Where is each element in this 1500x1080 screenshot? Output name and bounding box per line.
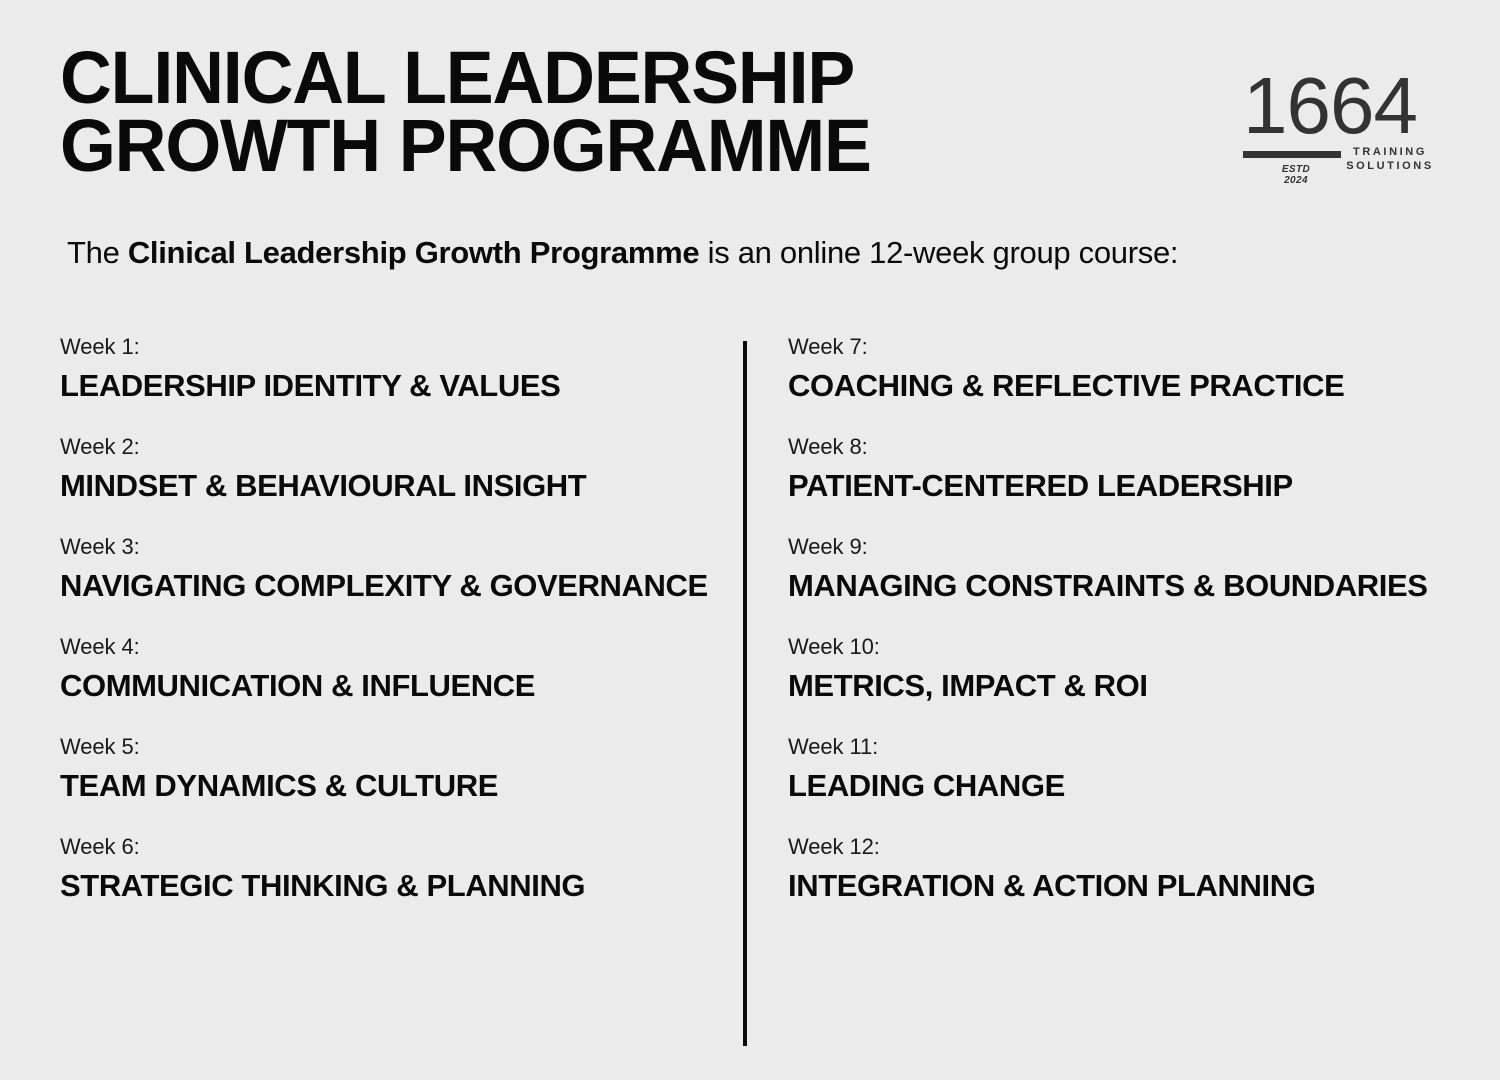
week-title: NAVIGATING COMPLEXITY & GOVERNANCE xyxy=(60,565,725,606)
week-item: Week 1:LEADERSHIP IDENTITY & VALUES xyxy=(60,332,725,406)
week-title: STRATEGIC THINKING & PLANNING xyxy=(60,865,725,906)
week-title: MINDSET & BEHAVIOURAL INSIGHT xyxy=(60,465,725,506)
week-label: Week 7: xyxy=(788,332,1468,362)
subtitle-tail: is an online 12-week group course: xyxy=(699,235,1178,270)
logo-tagline-text: TRAINING SOLUTIONS xyxy=(1341,145,1439,173)
week-columns: Week 1:LEADERSHIP IDENTITY & VALUESWeek … xyxy=(0,332,1500,1072)
week-label: Week 10: xyxy=(788,632,1468,662)
week-item: Week 8:PATIENT-CENTERED LEADERSHIP xyxy=(788,432,1468,506)
logo-tagline-line-2: SOLUTIONS xyxy=(1341,159,1439,173)
week-item: Week 12:INTEGRATION & ACTION PLANNING xyxy=(788,832,1468,906)
week-title: COMMUNICATION & INFLUENCE xyxy=(60,665,725,706)
week-item: Week 7:COACHING & REFLECTIVE PRACTICE xyxy=(788,332,1468,406)
week-label: Week 2: xyxy=(60,432,725,462)
week-item: Week 2:MINDSET & BEHAVIOURAL INSIGHT xyxy=(60,432,725,506)
header: CLINICAL LEADERSHIP GROWTH PROGRAMME 166… xyxy=(0,0,1500,215)
week-label: Week 3: xyxy=(60,532,725,562)
week-title: METRICS, IMPACT & ROI xyxy=(788,665,1468,706)
brand-logo: 1664 ESTD 2024 TRAINING SOLUTIONS xyxy=(1238,66,1438,186)
week-label: Week 6: xyxy=(60,832,725,862)
week-item: Week 6:STRATEGIC THINKING & PLANNING xyxy=(60,832,725,906)
logo-established-text: ESTD 2024 xyxy=(1266,164,1326,186)
poster-page: CLINICAL LEADERSHIP GROWTH PROGRAMME 166… xyxy=(0,0,1500,1080)
subtitle-emphasis: Clinical Leadership Growth Programme xyxy=(128,235,699,270)
week-column-left: Week 1:LEADERSHIP IDENTITY & VALUESWeek … xyxy=(60,332,725,932)
week-label: Week 12: xyxy=(788,832,1468,862)
subtitle-lead: The xyxy=(67,235,128,270)
logo-divider-rule xyxy=(1243,151,1341,158)
week-item: Week 5:TEAM DYNAMICS & CULTURE xyxy=(60,732,725,806)
week-label: Week 4: xyxy=(60,632,725,662)
page-title: CLINICAL LEADERSHIP GROWTH PROGRAMME xyxy=(60,44,1160,180)
week-item: Week 10:METRICS, IMPACT & ROI xyxy=(788,632,1468,706)
week-title: MANAGING CONSTRAINTS & BOUNDARIES xyxy=(788,565,1468,606)
week-title: LEADERSHIP IDENTITY & VALUES xyxy=(60,365,725,406)
logo-estd-year: 2024 xyxy=(1266,175,1326,186)
week-item: Week 4:COMMUNICATION & INFLUENCE xyxy=(60,632,725,706)
week-column-right: Week 7:COACHING & REFLECTIVE PRACTICEWee… xyxy=(788,332,1468,932)
logo-number-text: 1664 xyxy=(1243,66,1417,146)
week-title: TEAM DYNAMICS & CULTURE xyxy=(60,765,725,806)
week-item: Week 3:NAVIGATING COMPLEXITY & GOVERNANC… xyxy=(60,532,725,606)
week-title: COACHING & REFLECTIVE PRACTICE xyxy=(788,365,1468,406)
week-title: PATIENT-CENTERED LEADERSHIP xyxy=(788,465,1468,506)
week-label: Week 11: xyxy=(788,732,1468,762)
week-label: Week 5: xyxy=(60,732,725,762)
week-label: Week 1: xyxy=(60,332,725,362)
week-label: Week 8: xyxy=(788,432,1468,462)
week-label: Week 9: xyxy=(788,532,1468,562)
logo-tagline-line-1: TRAINING xyxy=(1341,145,1439,159)
week-item: Week 9:MANAGING CONSTRAINTS & BOUNDARIES xyxy=(788,532,1468,606)
page-title-line-2: GROWTH PROGRAMME xyxy=(60,112,1127,180)
week-title: LEADING CHANGE xyxy=(788,765,1468,806)
subtitle: The Clinical Leadership Growth Programme… xyxy=(67,233,1178,273)
logo-estd-label: ESTD xyxy=(1266,164,1326,175)
week-title: INTEGRATION & ACTION PLANNING xyxy=(788,865,1468,906)
page-title-line-1: CLINICAL LEADERSHIP xyxy=(60,44,1127,112)
week-item: Week 11:LEADING CHANGE xyxy=(788,732,1468,806)
